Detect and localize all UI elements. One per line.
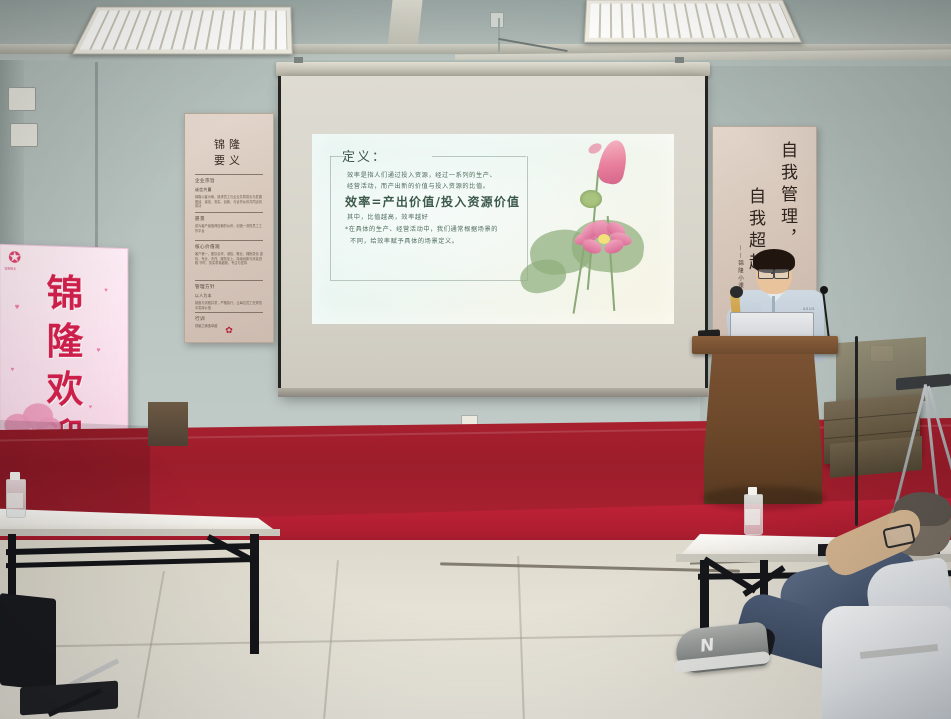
recessed-grille-light-right <box>584 0 802 43</box>
chair-backrest <box>0 593 56 691</box>
poster-section-text: 客户第一、团队合作、诚信、敬业、拥抱变化 激情、专业、责任、服务至上、持续创新与… <box>195 252 263 266</box>
poster-section-heading: 愿景 <box>195 216 263 222</box>
poster-section-heading: 核心价值观 <box>195 244 263 250</box>
poster-title-line-1: 锦隆 <box>185 136 273 152</box>
ceiling-conduit <box>498 18 500 52</box>
attendee-shirt <box>822 606 951 719</box>
screen-mount-hook-right <box>675 57 684 63</box>
water-bottle-left[interactable] <box>6 472 24 516</box>
slide-note-line-2: *在具体的生产、经营活动中，我们通常根据场景的 <box>345 224 498 233</box>
poster-section-heading: 管理方针 <box>195 284 263 290</box>
poster-section: 企业宗旨 诚信共赢 锦隆以客为尊，追求员工与企业共同成长与发展 团结、诚信、务实… <box>195 174 263 209</box>
projection-screen-case[interactable] <box>276 62 710 76</box>
poster-section-sub: 诚信共赢 <box>195 187 263 193</box>
wooden-step <box>148 402 188 446</box>
table-leg <box>250 534 259 654</box>
poster-section-text: 成为客户最值得信赖的伙伴，创造一流的员工工作平台 <box>195 224 263 233</box>
ceiling-beam-vertical <box>387 0 422 48</box>
slide-note-line-3: 不同，给效率赋予具体的场景定义。 <box>350 236 459 245</box>
banner-char-2: 隆 <box>0 310 127 365</box>
poster-section-sub: 以人为本 <box>195 293 263 299</box>
gooseneck-microphone-head <box>820 286 828 294</box>
screen-bottom-bar <box>278 388 708 397</box>
microphone-head <box>730 286 743 298</box>
ceiling-junction-box <box>490 12 504 28</box>
slide-title: 定义： <box>342 146 387 165</box>
glasses-icon <box>758 269 774 279</box>
sneaker-brand-mark: N <box>700 635 715 657</box>
slide-note-line-1: 其中，比值越高，效率越好 <box>347 212 428 221</box>
heart-icon: ♥ <box>15 302 20 311</box>
lotus-seed-pod <box>580 190 602 208</box>
heart-icon: ♥ <box>104 288 107 294</box>
bottle-cap <box>748 487 758 495</box>
slide-formula: 效率=产出价值/投入资源价值 <box>345 193 520 210</box>
wooden-lectern: ASUS <box>692 336 838 516</box>
poster-section-heading: 行训 <box>195 316 263 322</box>
poster-logo-icon: ✿ <box>185 325 273 336</box>
poster-section-heading: 企业宗旨 <box>195 178 263 184</box>
wall-poster-jinlong-essentials: 锦隆 要义 企业宗旨 诚信共赢 锦隆以客为尊，追求员工与企业共同成长与发展 团结… <box>184 113 274 343</box>
poster-section: 核心价值观 客户第一、团队合作、诚信、敬业、拥抱变化 激情、专业、责任、服务至上… <box>195 240 263 266</box>
seated-attendee: N <box>672 498 951 719</box>
chair-seat <box>20 681 118 716</box>
projected-slide: 定义： 效率是指人们通过投入资源，经过一系列的生产、 经营活动，而产出新的价值与… <box>312 134 674 324</box>
wall-outlet-upper-left[interactable] <box>8 87 36 111</box>
poster-title-line-2: 要义 <box>185 152 273 168</box>
heart-icon: ♥ <box>11 367 15 373</box>
slide-frame-top-right <box>432 156 526 157</box>
lotus-center <box>598 234 610 244</box>
poster-rule <box>195 240 263 241</box>
lotus-illustration <box>514 134 674 324</box>
heart-icon: ♥ <box>89 405 92 411</box>
glasses-icon <box>774 269 789 279</box>
lectern-top-surface <box>692 336 838 354</box>
glasses-bridge <box>771 272 775 274</box>
heart-icon: ♥ <box>96 347 100 354</box>
slide-body-line-2: 经营活动，而产出新的价值与投入资源的比值。 <box>347 181 490 190</box>
poster-section-text: 制度与流程并重，严格执行，让每位员工在规范中发挥价值 <box>195 301 263 310</box>
light-grille <box>589 4 795 38</box>
poster-column-1: 自我管理， <box>775 141 800 251</box>
poster-rule <box>195 174 263 175</box>
poster-section: 愿景 成为客户最值得信赖的伙伴，创造一流的员工工作平台 <box>195 212 263 233</box>
wall-outlet-lower-left[interactable] <box>10 123 38 147</box>
poster-rule <box>195 312 263 313</box>
laptop-brand-label: ASUS <box>803 307 815 311</box>
table-left-edge <box>0 529 280 536</box>
poster-section-text: 锦隆以客为尊，追求员工与企业共同成长与发展 团结、诚信、务实、创新，与合作伙伴共… <box>195 195 263 209</box>
bottle-cap <box>10 472 20 480</box>
poster-rule <box>195 280 263 281</box>
lotus-bud-leaf <box>587 141 604 156</box>
lotus-bloom <box>574 220 632 260</box>
slide-body-line-1: 效率是指人们通过投入资源，经过一系列的生产、 <box>347 170 496 179</box>
poster-section: 管理方针 以人为本 制度与流程并重，严格执行，让每位员工在规范中发挥价值 <box>195 280 263 310</box>
light-grille <box>80 11 288 50</box>
poster-rule <box>195 212 263 213</box>
screen-mount-hook-left <box>294 57 303 63</box>
stacking-chair-left[interactable] <box>0 596 118 719</box>
recessed-grille-light-left <box>72 7 293 55</box>
bottle-label <box>7 493 23 508</box>
conference-room-photo: 定义： 效率是指人们通过投入资源，经过一系列的生产、 经营活动，而产出新的价值与… <box>0 0 951 719</box>
lectern-front-panel <box>704 354 822 504</box>
